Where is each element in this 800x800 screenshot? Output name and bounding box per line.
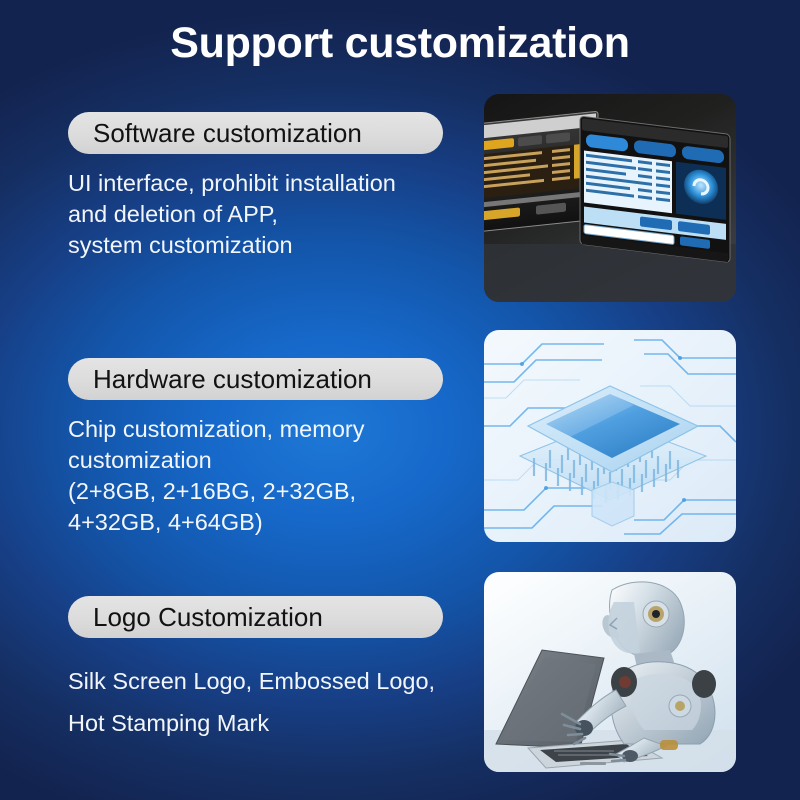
description-line: Silk Screen Logo, Embossed Logo, [68, 660, 468, 702]
badge-hardware-customization: Hardware customization [68, 358, 443, 400]
software-description: UI interface, prohibit installation and … [68, 168, 468, 261]
section-software-customization: Software customization UI interface, pro… [68, 112, 468, 261]
description-line: customization [68, 445, 468, 476]
description-line: and deletion of APP, [68, 199, 468, 230]
badge-logo-customization: Logo Customization [68, 596, 443, 638]
description-line: Chip customization, memory [68, 414, 468, 445]
description-line: Hot Stamping Mark [68, 702, 468, 744]
description-line: UI interface, prohibit installation [68, 168, 468, 199]
section-logo-customization: Logo Customization Silk Screen Logo, Emb… [68, 596, 468, 744]
cpu-chip-circuit-image [484, 330, 736, 542]
badge-software-customization: Software customization [68, 112, 443, 154]
hardware-description: Chip customization, memory customization… [68, 414, 468, 538]
section-hardware-customization: Hardware customization Chip customizatio… [68, 358, 468, 538]
description-line: 4+32GB, 4+64GB) [68, 507, 468, 538]
description-line: (2+8GB, 2+16BG, 2+32GB, [68, 476, 468, 507]
robot-laptop-image [484, 572, 736, 772]
software-ui-screens-image [484, 94, 736, 302]
description-line: system customization [68, 230, 468, 261]
page-title: Support customization [0, 17, 800, 69]
logo-description: Silk Screen Logo, Embossed Logo, Hot Sta… [68, 660, 468, 744]
support-customization-poster: Support customization Software customiza… [0, 0, 800, 800]
